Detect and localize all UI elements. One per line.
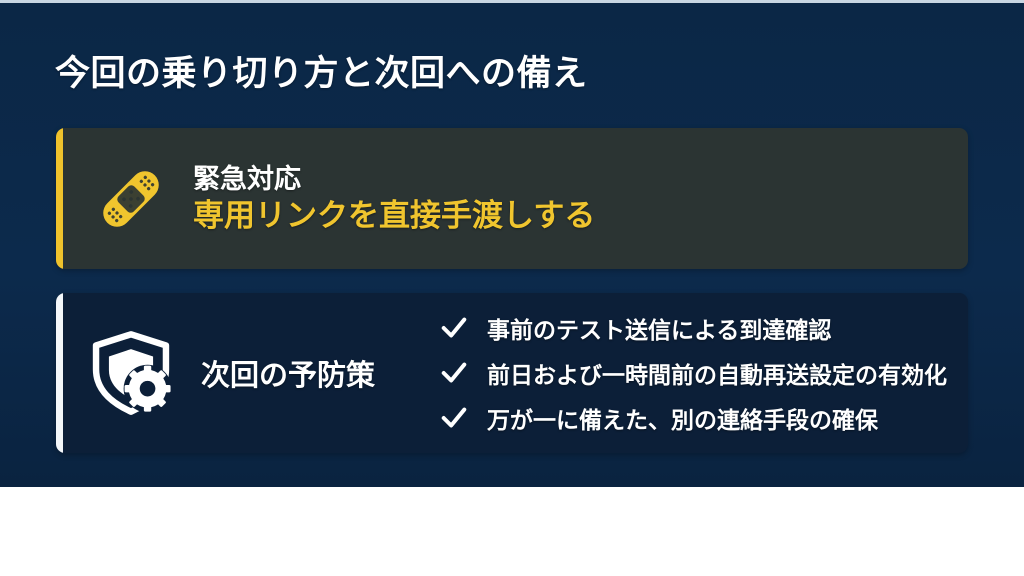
list-item: 事前のテスト送信による到達確認 xyxy=(439,311,947,345)
card-accent-bar-prevention xyxy=(56,293,63,453)
card-emergency-response: 緊急対応 専用リンクを直接手渡しする xyxy=(56,128,968,269)
slide-canvas: 今回の乗り切り方と次回への備え xyxy=(0,3,1024,487)
prevention-checklist: 事前のテスト送信による到達確認 前日および一時間前の自動再送設定の有効化 万が一… xyxy=(439,311,947,435)
card-accent-bar-emergency xyxy=(56,128,63,269)
list-item: 前日および一時間前の自動再送設定の有効化 xyxy=(439,356,947,390)
check-icon xyxy=(439,358,469,388)
check-icon xyxy=(439,403,469,433)
emergency-action-text: 専用リンクを直接手渡しする xyxy=(193,198,595,234)
list-item: 万が一に備えた、別の連絡手段の確保 xyxy=(439,401,947,435)
checklist-item-text: 事前のテスト送信による到達確認 xyxy=(487,311,831,345)
checklist-item-text: 前日および一時間前の自動再送設定の有効化 xyxy=(487,356,947,390)
prevention-heading: 次回の予防策 xyxy=(201,352,375,394)
card-prevention-content: 次回の予防策 事前のテスト送信による到達確認 前日および一時間前の自動再送設定の… xyxy=(63,293,968,453)
card-emergency-content: 緊急対応 専用リンクを直接手渡しする xyxy=(63,128,968,269)
check-icon xyxy=(439,313,469,343)
bottom-white-area xyxy=(0,487,1024,576)
shield-gear-icon xyxy=(63,319,199,427)
emergency-label: 緊急対応 xyxy=(193,164,595,194)
checklist-item-text: 万が一に備えた、別の連絡手段の確保 xyxy=(487,401,878,435)
bandage-icon xyxy=(63,149,199,249)
page-title: 今回の乗り切り方と次回への備え xyxy=(55,45,588,96)
emergency-text-block: 緊急対応 専用リンクを直接手渡しする xyxy=(193,164,595,234)
card-prevention-measures: 次回の予防策 事前のテスト送信による到達確認 前日および一時間前の自動再送設定の… xyxy=(56,293,968,453)
slide-root: 今回の乗り切り方と次回への備え xyxy=(0,0,1024,576)
